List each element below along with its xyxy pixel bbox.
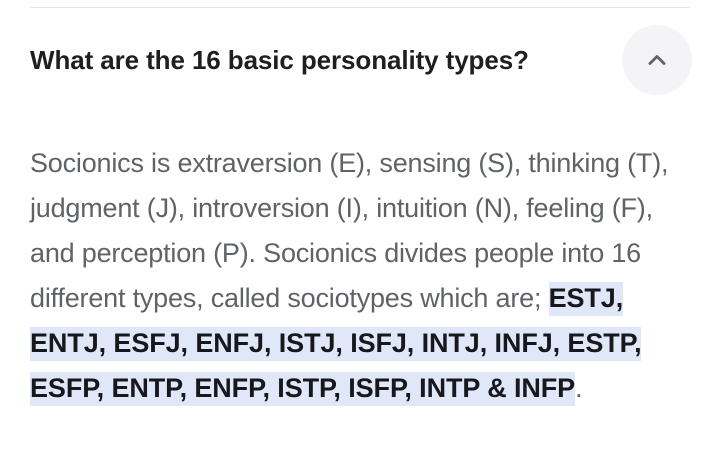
section-divider: [30, 7, 690, 8]
faq-question-title: What are the 16 basic personality types?: [0, 44, 622, 76]
faq-answer-text: Socionics is extraversion (E), sensing (…: [30, 141, 702, 411]
answer-trailing-punctuation: .: [575, 373, 582, 403]
collapse-toggle-button[interactable]: [622, 25, 692, 95]
chevron-up-icon: [644, 47, 670, 73]
faq-accordion-item: What are the 16 basic personality types?…: [0, 0, 720, 467]
faq-header-row[interactable]: What are the 16 basic personality types?: [0, 24, 720, 96]
